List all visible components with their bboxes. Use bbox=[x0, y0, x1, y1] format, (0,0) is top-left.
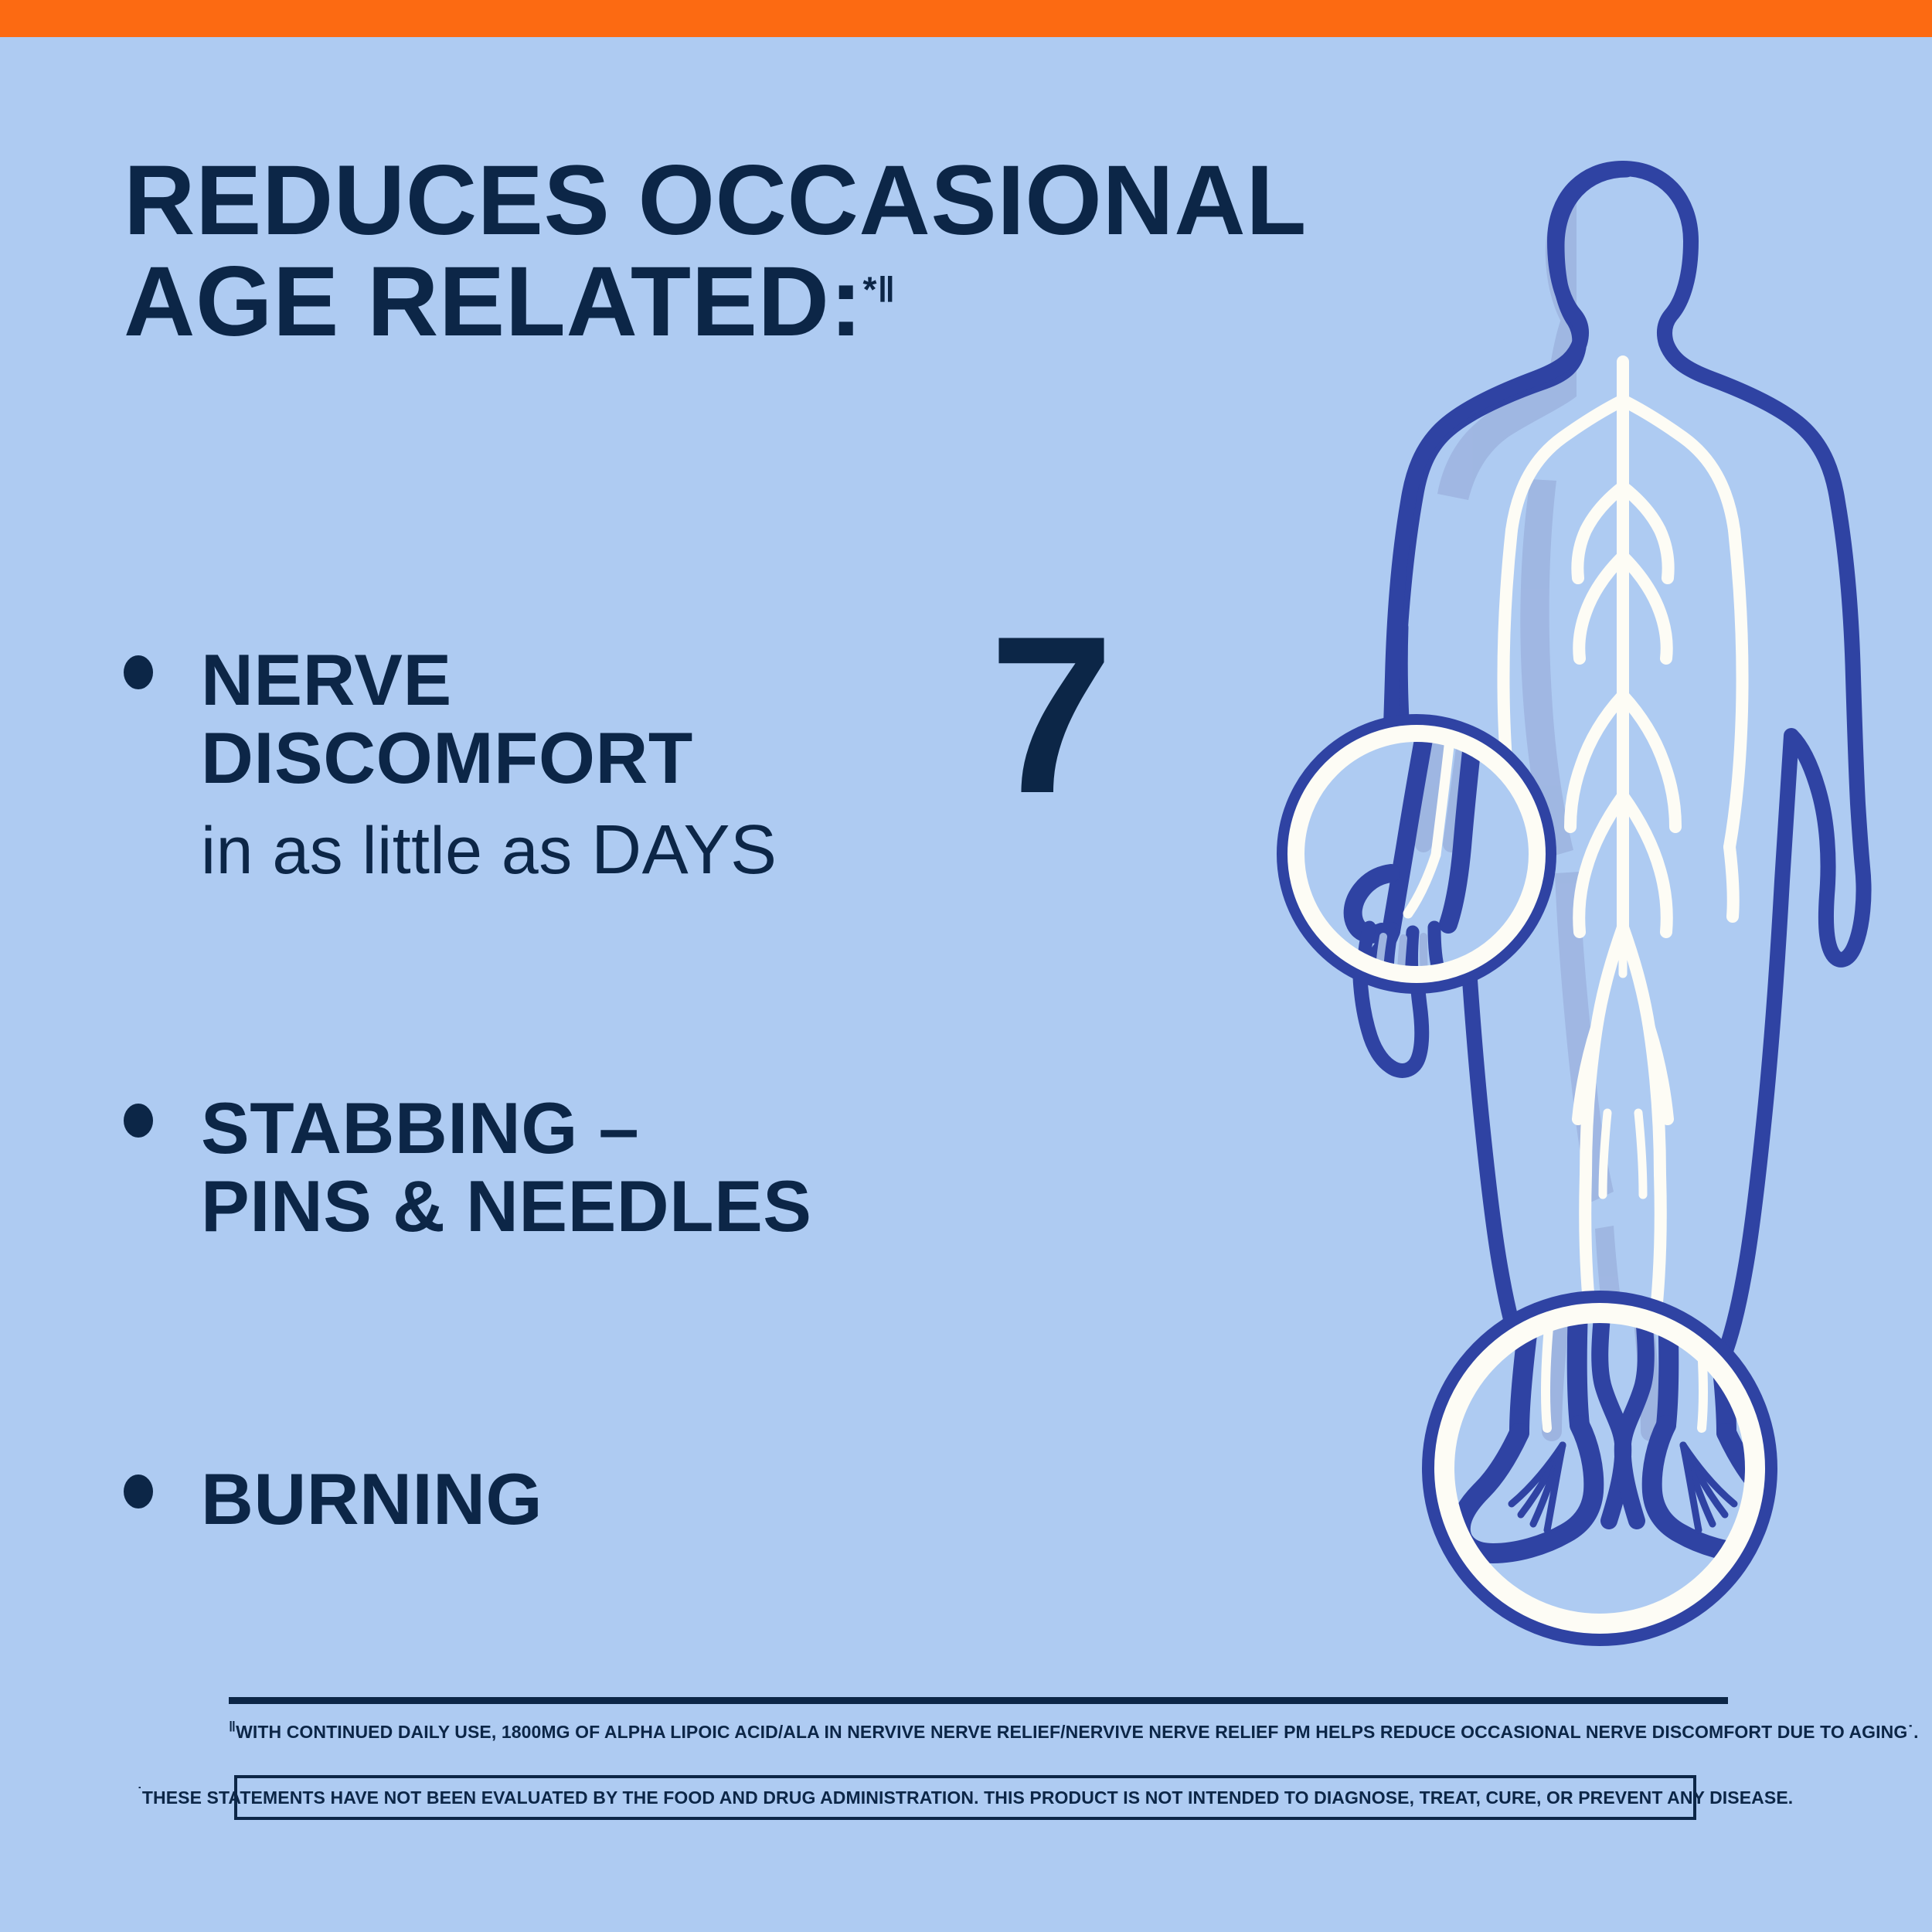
headline-line-2-text: AGE RELATED: bbox=[124, 247, 863, 357]
bullet-item-burning: BURNING bbox=[124, 1461, 1206, 1539]
magnified-hand-nerves bbox=[1282, 719, 1551, 996]
headline-superscript-marker: *‖ bbox=[863, 269, 896, 309]
bullet-1-sub-prefix: in as little as bbox=[201, 814, 591, 888]
footnote-primary: ‖WITH CONTINUED DAILY USE, 1800MG OF ALP… bbox=[229, 1722, 1736, 1743]
footnote-primary-text: WITH CONTINUED DAILY USE, 1800MG OF ALPH… bbox=[236, 1722, 1919, 1742]
bullet-dot-icon bbox=[124, 655, 153, 689]
bullet-content: STABBING – PINS & NEEDLES bbox=[201, 1090, 1206, 1245]
footnote-marker-icon: ‖ bbox=[229, 1719, 236, 1734]
bullet-content: NERVE 7 DISCOMFORT in as little as DAYS bbox=[201, 641, 1206, 889]
bullet-item-stabbing-pins-needles: STABBING – PINS & NEEDLES bbox=[124, 1090, 1206, 1245]
fda-disclaimer-text-wrap: ˙THESE STATEMENTS HAVE NOT BEEN EVALUATE… bbox=[138, 1787, 1794, 1808]
page-title: REDUCES OCCASIONAL AGE RELATED:*‖ bbox=[124, 151, 1244, 352]
fda-disclaimer-box: ˙THESE STATEMENTS HAVE NOT BEEN EVALUATE… bbox=[234, 1775, 1696, 1820]
human-nervous-system-figure bbox=[1275, 155, 1932, 1762]
headline-line-2: AGE RELATED:*‖ bbox=[124, 252, 1244, 353]
bullet-3-line-1: BURNING bbox=[201, 1461, 1206, 1539]
bullet-row-one: NERVE 7 bbox=[201, 641, 1206, 719]
bullet-dot-icon bbox=[124, 1475, 153, 1509]
bullet-dot-icon bbox=[124, 1104, 153, 1138]
days-count-number: 7 bbox=[989, 603, 1114, 827]
bullet-2-line-2: PINS & NEEDLES bbox=[201, 1168, 1206, 1246]
fda-disclaimer-text: THESE STATEMENTS HAVE NOT BEEN EVALUATED… bbox=[142, 1787, 1793, 1808]
poster-canvas: REDUCES OCCASIONAL AGE RELATED:*‖ NERVE … bbox=[0, 0, 1932, 1932]
footer-divider bbox=[229, 1697, 1728, 1704]
headline-line-1: REDUCES OCCASIONAL bbox=[124, 151, 1244, 252]
top-accent-bar bbox=[0, 0, 1932, 37]
bullet-content: BURNING bbox=[201, 1461, 1206, 1539]
bullet-1-sub-unit: DAYS bbox=[591, 811, 777, 889]
bullet-2-line-1: STABBING – bbox=[201, 1090, 1206, 1168]
nerve-fine-branches bbox=[1603, 889, 1643, 1195]
bullet-item-nerve-discomfort: NERVE 7 DISCOMFORT in as little as DAYS bbox=[124, 641, 1206, 889]
figure-body-group bbox=[1282, 168, 1864, 1640]
